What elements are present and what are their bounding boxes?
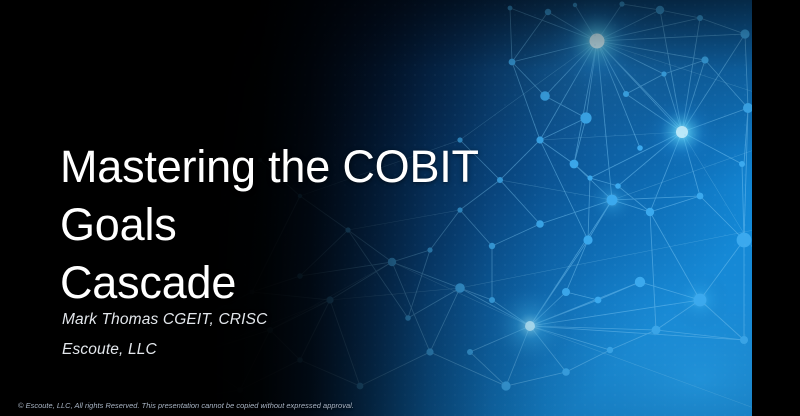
presenter-organization: Escoute, LLC [62,341,157,359]
copyright-footer: © Escoute, LLC, All rights Reserved. Thi… [18,401,354,410]
presenter-name: Mark Thomas CGEIT, CRISC [62,311,267,329]
right-black-band [752,0,800,416]
title-slide: Mastering the COBIT Goals Cascade Mark T… [0,0,800,416]
slide-title: Mastering the COBIT Goals Cascade [60,138,600,312]
